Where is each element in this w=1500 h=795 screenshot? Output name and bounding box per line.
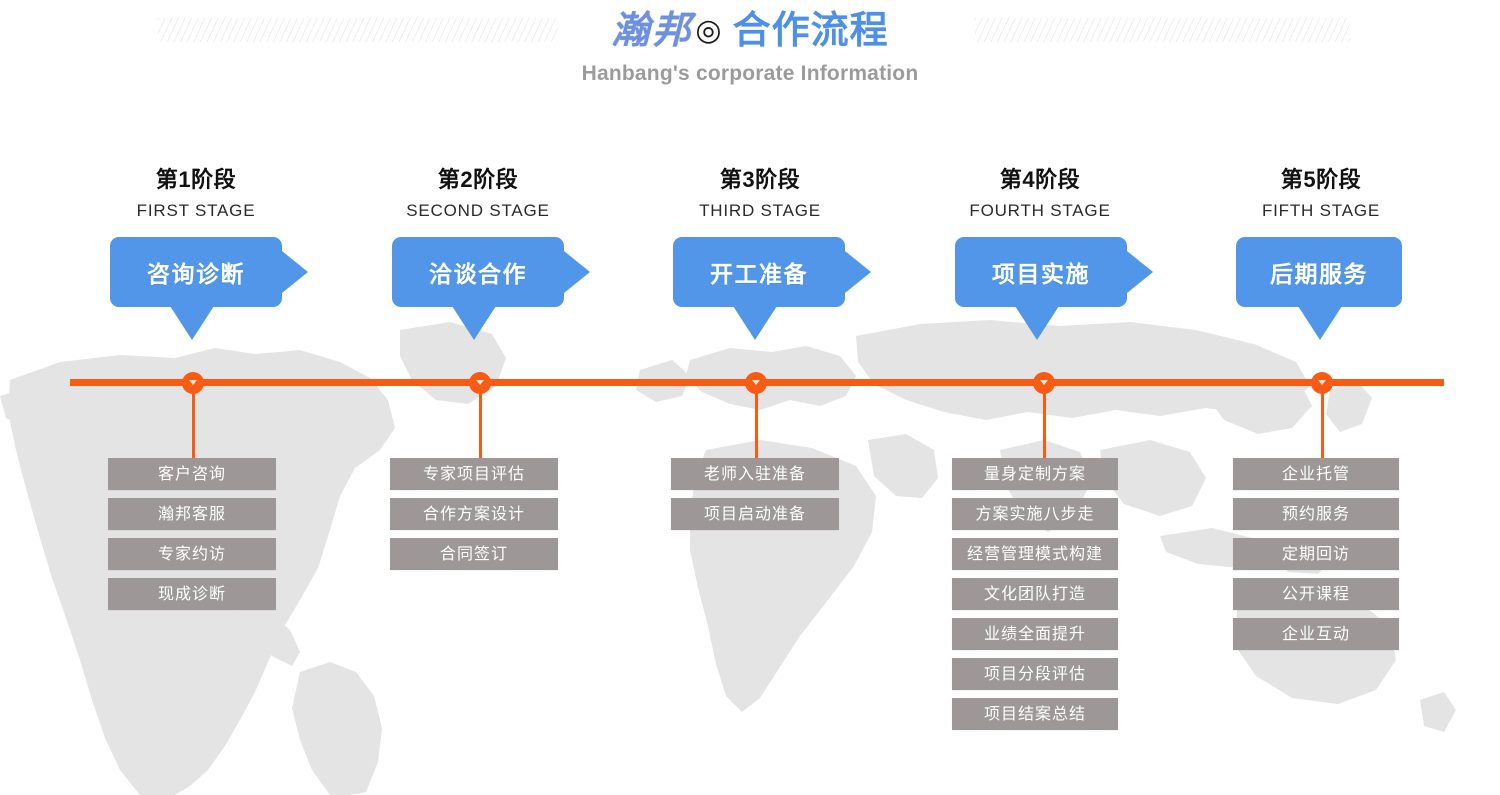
callout-label: 项目实施 [992,255,1090,289]
callout-stage-2[interactable]: 洽谈合作 [392,237,564,307]
callout-stage-1[interactable]: 咨询诊断 [110,237,282,307]
callout-label: 洽谈合作 [429,255,527,289]
callout-next-arrow-icon [282,251,308,293]
callout-body: 咨询诊断 [110,237,282,307]
callout-stage-4[interactable]: 项目实施 [955,237,1127,307]
callout-body: 开工准备 [673,237,845,307]
callout-body: 项目实施 [955,237,1127,307]
stage-title-en: FIRST STAGE [86,201,306,221]
timeline-drop-line-2 [479,390,482,458]
list-item[interactable]: 公开课程 [1233,578,1399,610]
callout-label: 咨询诊断 [147,255,245,289]
page-header: 瀚邦◎合作流程 Hanbang's corporate Information [0,0,1500,86]
stage-title-en: SECOND STAGE [368,201,588,221]
stage-title-cn: 第2阶段 [368,162,588,194]
list-item[interactable]: 经营管理模式构建 [952,538,1118,570]
callout-next-arrow-icon [1127,251,1153,293]
timeline-drop-line-1 [192,390,195,458]
stage-title-cn: 第4阶段 [930,162,1150,194]
item-list-stage-5: 企业托管 预约服务 定期回访 公开课程 企业互动 [1233,458,1399,658]
stage-header-1: 第1阶段 FIRST STAGE [86,162,306,221]
callout-tail-icon [1015,306,1059,340]
stage-header-5: 第5阶段 FIFTH STAGE [1211,162,1431,221]
list-item[interactable]: 方案实施八步走 [952,498,1118,530]
callout-body: 洽谈合作 [392,237,564,307]
list-item[interactable]: 文化团队打造 [952,578,1118,610]
title-text-cn: 合作流程 [733,10,889,52]
callout-tail-icon [733,306,777,340]
timeline-drop-line-4 [1043,390,1046,458]
stage-title-en: FIFTH STAGE [1211,201,1431,221]
callout-stage-3[interactable]: 开工准备 [673,237,845,307]
callout-next-arrow-icon [845,251,871,293]
list-item[interactable]: 客户咨询 [108,458,276,490]
list-item[interactable]: 老师入驻准备 [671,458,839,490]
timeline-drop-line-3 [755,390,758,458]
stage-header-4: 第4阶段 FOURTH STAGE [930,162,1150,221]
item-list-stage-1: 客户咨询 瀚邦客服 专家约访 现成诊断 [108,458,276,618]
page-title: 瀚邦◎合作流程 [0,8,1500,54]
stage-title-cn: 第5阶段 [1211,162,1431,194]
infographic-root: 瀚邦◎合作流程 Hanbang's corporate Information … [0,0,1500,795]
brand-name-cn: 瀚邦 [611,7,693,52]
list-item[interactable]: 企业托管 [1233,458,1399,490]
list-item[interactable]: 合同签订 [390,538,558,570]
list-item[interactable]: 专家约访 [108,538,276,570]
list-item[interactable]: 定期回访 [1233,538,1399,570]
list-item[interactable]: 企业互动 [1233,618,1399,650]
item-list-stage-2: 专家项目评估 合作方案设计 合同签订 [390,458,558,578]
list-item[interactable]: 专家项目评估 [390,458,558,490]
stage-title-en: THIRD STAGE [650,201,870,221]
list-item[interactable]: 项目分段评估 [952,658,1118,690]
list-item[interactable]: 现成诊断 [108,578,276,610]
callout-label: 开工准备 [710,255,808,289]
item-list-stage-3: 老师入驻准备 项目启动准备 [671,458,839,538]
list-item[interactable]: 项目结案总结 [952,698,1118,730]
callout-tail-icon [170,306,214,340]
list-item[interactable]: 合作方案设计 [390,498,558,530]
list-item[interactable]: 业绩全面提升 [952,618,1118,650]
list-item[interactable]: 预约服务 [1233,498,1399,530]
list-item[interactable]: 瀚邦客服 [108,498,276,530]
item-list-stage-4: 量身定制方案 方案实施八步走 经营管理模式构建 文化团队打造 业绩全面提升 项目… [952,458,1118,738]
callout-stage-5[interactable]: 后期服务 [1236,237,1402,307]
brand-mark-icon: ◎ [695,14,722,47]
callout-tail-icon [1298,306,1342,340]
callout-body: 后期服务 [1236,237,1402,307]
stage-title-cn: 第1阶段 [86,162,306,194]
callout-tail-icon [452,306,496,340]
stage-header-3: 第3阶段 THIRD STAGE [650,162,870,221]
list-item[interactable]: 项目启动准备 [671,498,839,530]
stage-title-en: FOURTH STAGE [930,201,1150,221]
stage-header-2: 第2阶段 SECOND STAGE [368,162,588,221]
stage-title-cn: 第3阶段 [650,162,870,194]
page-subtitle: Hanbang's corporate Information [0,62,1500,86]
callout-next-arrow-icon [564,251,590,293]
callout-label: 后期服务 [1270,255,1368,289]
list-item[interactable]: 量身定制方案 [952,458,1118,490]
timeline-drop-line-5 [1321,390,1324,458]
